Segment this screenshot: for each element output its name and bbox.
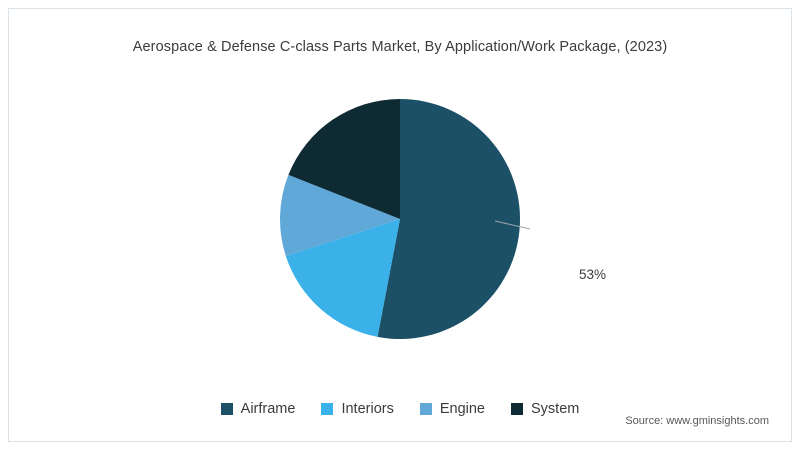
- pie-chart-area: 53%: [9, 69, 791, 369]
- slice-label-airframe: 53%: [579, 267, 606, 282]
- legend-item-engine[interactable]: Engine: [420, 401, 485, 417]
- legend-label-airframe: Airframe: [241, 401, 296, 417]
- legend-item-airframe[interactable]: Airframe: [221, 401, 296, 417]
- legend-swatch-interiors: [321, 403, 333, 415]
- chart-title: Aerospace & Defense C-class Parts Market…: [9, 39, 791, 55]
- pie-chart-svg: [190, 69, 610, 369]
- pie-slices: [280, 99, 520, 339]
- legend-label-engine: Engine: [440, 401, 485, 417]
- legend-label-system: System: [531, 401, 579, 417]
- legend-label-interiors: Interiors: [341, 401, 393, 417]
- legend-swatch-engine: [420, 403, 432, 415]
- chart-card: Aerospace & Defense C-class Parts Market…: [8, 8, 792, 442]
- legend-swatch-system: [511, 403, 523, 415]
- legend-swatch-airframe: [221, 403, 233, 415]
- legend-item-system[interactable]: System: [511, 401, 579, 417]
- source-credit: Source: www.gminsights.com: [625, 415, 769, 427]
- legend-item-interiors[interactable]: Interiors: [321, 401, 393, 417]
